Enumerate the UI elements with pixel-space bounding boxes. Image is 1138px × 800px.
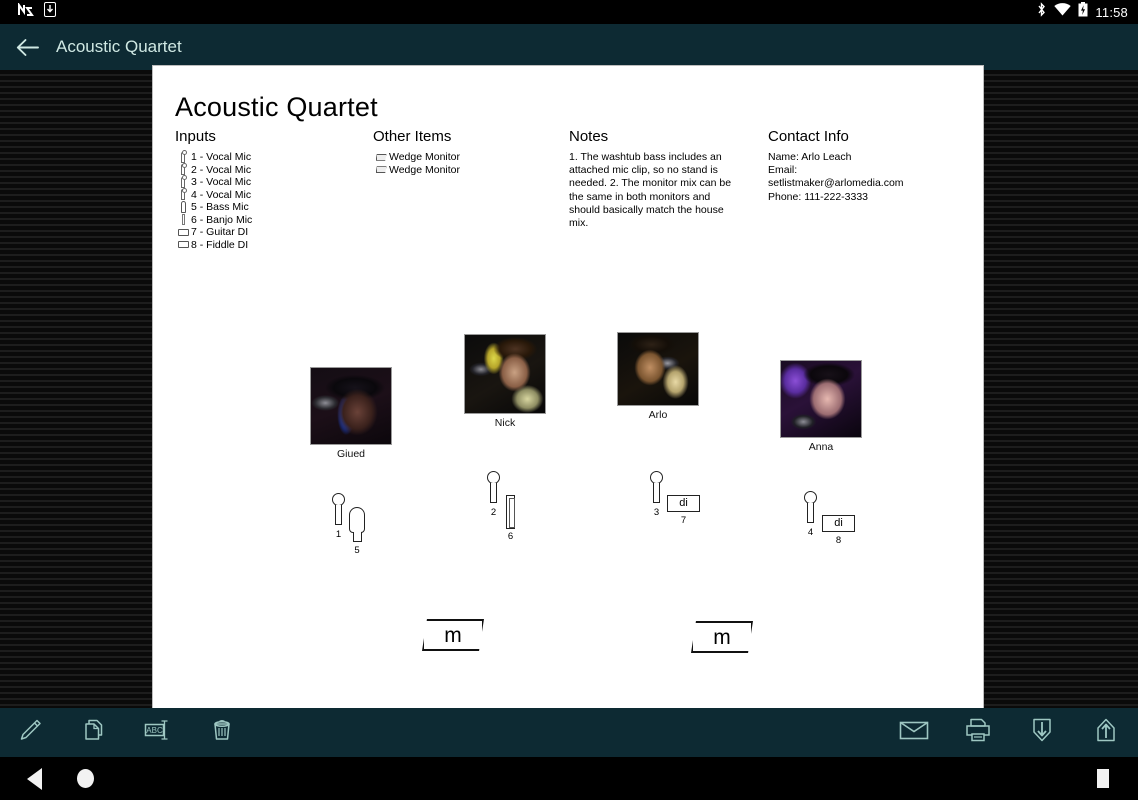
wifi-icon [1054, 3, 1071, 21]
document-page[interactable]: Acoustic Quartet Inputs 1 - Vocal Mic 2 … [153, 66, 983, 709]
delete-button[interactable] [202, 713, 242, 753]
app-root: 11:58 Acoustic Quartet Acoustic Quartet … [0, 0, 1138, 800]
performer-name: Giued [337, 448, 365, 460]
performer-photo-arlo[interactable]: Arlo [617, 332, 699, 406]
bottom-toolbar: ABC [0, 708, 1138, 757]
toolbar-left-group: ABC [0, 713, 242, 753]
stage-item-wedge-monitor-2[interactable]: m [691, 621, 753, 653]
wedge-monitor-label: m [713, 627, 731, 648]
copy-pages-icon [81, 717, 107, 748]
stage-item-vocal-mic-4[interactable]: 4 [804, 491, 817, 523]
stage-item-di-box-8[interactable]: di 8 [822, 515, 855, 532]
toolbar-right-group [894, 713, 1138, 753]
di-box-label: di [679, 498, 688, 509]
nova-launcher-icon [18, 3, 34, 22]
stage-item-bass-mic-5[interactable]: 5 [349, 507, 365, 542]
edit-button[interactable] [10, 713, 50, 753]
stage-plot: Giued Nick Arlo Anna 1 5 [153, 66, 983, 709]
stage-item-vocal-mic-1[interactable]: 1 [332, 493, 345, 525]
status-bar: 11:58 [0, 0, 1138, 24]
performer-photo-nick[interactable]: Nick [464, 334, 546, 414]
wedge-monitor-icon: m [691, 621, 753, 653]
status-bar-clock: 11:58 [1095, 5, 1128, 20]
stage-item-number: 3 [654, 507, 659, 518]
email-button[interactable] [894, 713, 934, 753]
bass-mic-icon [349, 507, 365, 533]
trash-can-icon [209, 717, 235, 748]
stage-item-di-box-7[interactable]: di 7 [667, 495, 700, 512]
back-arrow-icon[interactable] [14, 34, 40, 60]
android-home-icon[interactable] [77, 769, 94, 788]
di-box-label: di [834, 518, 843, 529]
di-box-icon: di [667, 495, 700, 512]
envelope-icon [899, 718, 929, 747]
android-nav-bar [0, 757, 1138, 800]
performer-name: Nick [495, 417, 515, 429]
battery-charging-icon [1078, 2, 1088, 22]
stage-item-number: 2 [491, 507, 496, 518]
stage-item-vocal-mic-2[interactable]: 2 [487, 471, 500, 503]
performer-name: Anna [809, 441, 834, 453]
stage-item-number: 6 [508, 531, 513, 542]
bluetooth-icon [1036, 2, 1047, 22]
stage-item-number: 1 [336, 529, 341, 540]
status-bar-left-icons [0, 2, 56, 22]
performer-photo-giued[interactable]: Giued [310, 367, 392, 445]
app-bar-title: Acoustic Quartet [56, 37, 182, 57]
printer-icon [964, 717, 992, 748]
stage-item-banjo-mic-6[interactable]: 6 [506, 495, 515, 529]
rename-abc-icon: ABC [143, 717, 173, 748]
banjo-mic-icon [506, 495, 515, 529]
rename-button[interactable]: ABC [138, 713, 178, 753]
di-box-icon: di [822, 515, 855, 532]
stage-item-number: 7 [681, 515, 686, 526]
android-back-icon[interactable] [27, 768, 42, 790]
stage-item-number: 4 [808, 527, 813, 538]
android-recents-icon[interactable] [1097, 769, 1109, 788]
wedge-monitor-icon: m [422, 619, 484, 651]
stage-item-number: 5 [354, 545, 359, 556]
pencil-edit-icon [17, 717, 43, 748]
app-bar: Acoustic Quartet [0, 24, 1138, 70]
duplicate-button[interactable] [74, 713, 114, 753]
share-upload-icon [1094, 717, 1118, 748]
share-button[interactable] [1086, 713, 1126, 753]
sd-card-icon [44, 2, 56, 22]
performer-name: Arlo [649, 409, 668, 421]
status-bar-right-icons: 11:58 [1036, 2, 1138, 22]
svg-text:ABC: ABC [146, 726, 163, 735]
download-icon [1030, 717, 1054, 748]
print-button[interactable] [958, 713, 998, 753]
stage-item-vocal-mic-3[interactable]: 3 [650, 471, 663, 503]
stage-item-number: 8 [836, 535, 841, 546]
performer-photo-anna[interactable]: Anna [780, 360, 862, 438]
wedge-monitor-label: m [444, 625, 462, 646]
save-button[interactable] [1022, 713, 1062, 753]
stage-item-wedge-monitor-1[interactable]: m [422, 619, 484, 651]
